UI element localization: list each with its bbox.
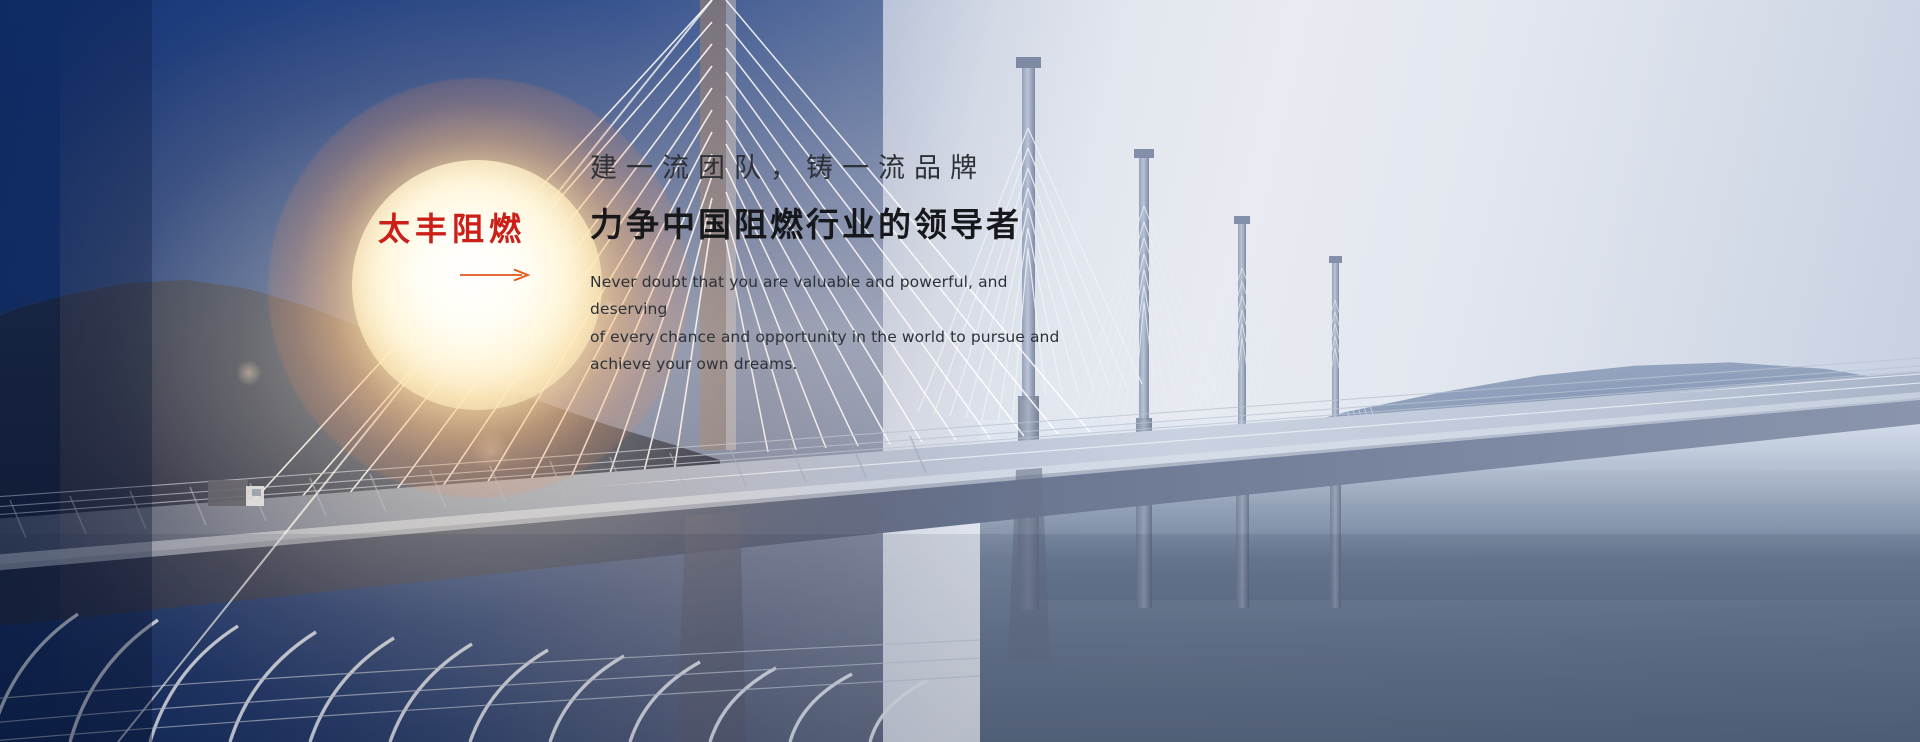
logo-text: 太丰阻燃 — [378, 213, 548, 245]
headline-secondary: 力争中国阻燃行业的领导者 — [590, 204, 1150, 247]
banner-copy: 建一流团队，铸一流品牌 力争中国阻燃行业的领导者 Never doubt tha… — [590, 152, 1150, 379]
headline-primary: 建一流团队，铸一流品牌 — [590, 152, 1150, 186]
arrow-right-icon — [460, 268, 532, 282]
hero-banner: 太丰阻燃 建一流团队，铸一流品牌 力争中国阻燃行业的领导者 Never doub… — [0, 0, 1920, 742]
banner-content: 太丰阻燃 建一流团队，铸一流品牌 力争中国阻燃行业的领导者 Never doub… — [0, 0, 1920, 742]
sub-copy-paragraph: Never doubt that you are valuable and po… — [590, 269, 1060, 379]
brand-logo[interactable]: 太丰阻燃 — [378, 213, 548, 245]
